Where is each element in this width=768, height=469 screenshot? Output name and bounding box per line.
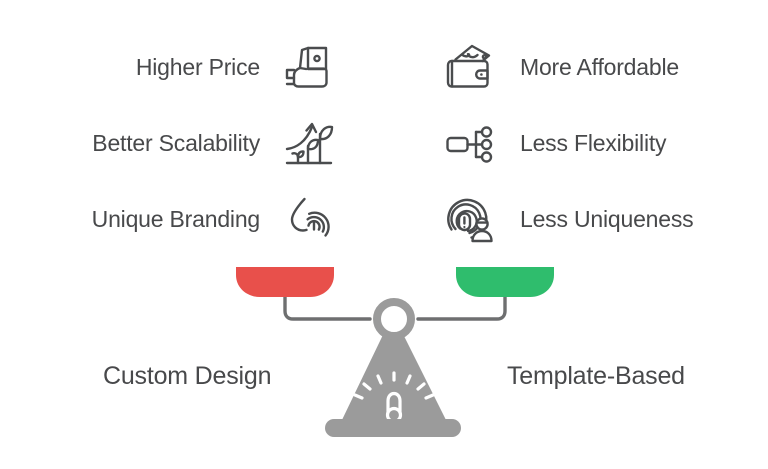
droplet-fingerprint-icon	[278, 189, 340, 251]
feature-label-unique-branding: Unique Branding	[92, 207, 260, 232]
right-pan-green	[456, 267, 554, 297]
feature-label-less-uniqueness: Less Uniqueness	[520, 207, 693, 232]
node-hierarchy-icon	[440, 113, 502, 175]
wallet-cash-icon	[440, 37, 502, 99]
feature-row-less-flexibility: Less Flexibility	[440, 106, 768, 182]
side-label-template-based: Template-Based	[507, 362, 685, 391]
left-pan-red	[236, 267, 334, 297]
feature-row-less-uniqueness: Less Uniqueness	[440, 182, 768, 258]
growth-plant-arrow-icon	[278, 113, 340, 175]
side-label-custom-design: Custom Design	[103, 362, 271, 391]
feature-row-unique-branding: Unique Branding	[10, 182, 340, 258]
right-feature-column: More Affordable Les	[440, 30, 768, 258]
hand-holding-cash-icon	[278, 37, 340, 99]
scale-pivot-ring	[377, 302, 411, 336]
left-feature-column: Higher Price Better Scalability	[10, 30, 340, 258]
feature-row-higher-price: Higher Price	[10, 30, 340, 106]
comparison-infographic: Higher Price Better Scalability	[0, 0, 768, 469]
balance-scale	[0, 255, 768, 450]
feature-label-higher-price: Higher Price	[136, 55, 260, 80]
feature-label-less-flexibility: Less Flexibility	[520, 131, 666, 156]
feature-row-better-scalability: Better Scalability	[10, 106, 340, 182]
feature-label-better-scalability: Better Scalability	[92, 131, 260, 156]
feature-label-more-affordable: More Affordable	[520, 55, 679, 80]
fingerprint-person-icon	[440, 189, 502, 251]
feature-row-more-affordable: More Affordable	[440, 30, 768, 106]
scale-foot	[325, 419, 461, 437]
